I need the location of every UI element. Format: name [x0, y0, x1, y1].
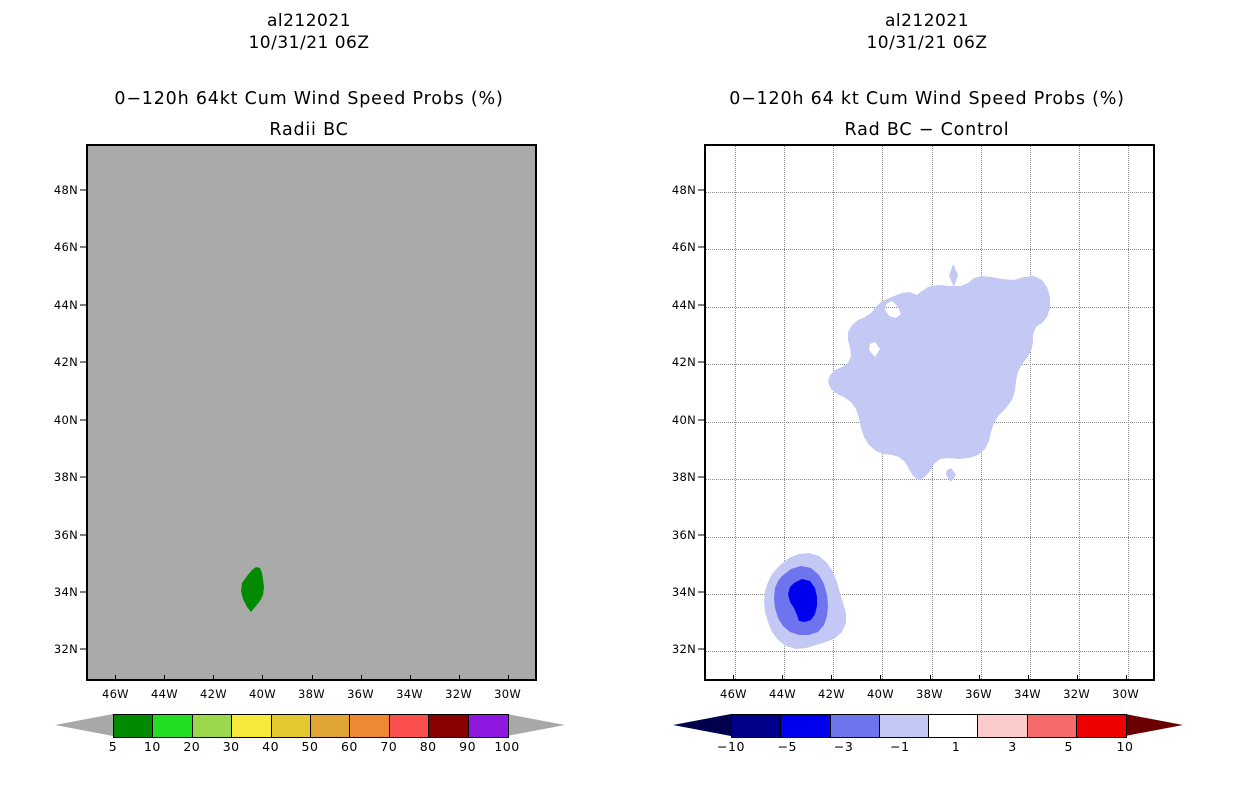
colorbar-segment[interactable]	[781, 715, 830, 737]
colorbar-segment[interactable]	[193, 715, 232, 737]
x-tick-mark	[930, 675, 931, 681]
colorbar-segment[interactable]	[1028, 715, 1077, 737]
y-tick-mark	[698, 534, 704, 535]
colorbar-segment[interactable]	[272, 715, 311, 737]
x-tick-label: 38W	[287, 687, 337, 701]
y-tick-mark	[80, 247, 86, 248]
x-tick-mark	[1077, 675, 1078, 681]
y-tick-label: 34N	[34, 585, 78, 599]
x-tick-label: 36W	[336, 687, 386, 701]
x-tick-label: 44W	[139, 687, 189, 701]
panel-title-right: 0−120h 64 kt Cum Wind Speed Probs (%)	[618, 88, 1236, 110]
colorbar-tick-label: 30	[211, 739, 251, 754]
colorbar-segment[interactable]	[114, 715, 153, 737]
colorbar-tick-label: 10	[132, 739, 172, 754]
x-tick-mark	[1028, 675, 1029, 681]
x-tick-mark	[410, 675, 411, 681]
datetime-left: 10/31/21 06Z	[0, 32, 618, 54]
x-tick-mark	[979, 675, 980, 681]
y-tick-mark	[80, 591, 86, 592]
x-tick-mark	[508, 675, 509, 681]
y-tick-label: 36N	[652, 528, 696, 542]
colorbar-tick-label: 80	[408, 739, 448, 754]
difference-contour-north-minus1-minus3	[828, 276, 1050, 482]
colorbar-tick-label: 50	[290, 739, 330, 754]
y-tick-label: 38N	[34, 470, 78, 484]
x-tick-mark	[262, 675, 263, 681]
x-tick-label: 32W	[434, 687, 484, 701]
y-tick-mark	[698, 189, 704, 190]
y-tick-label: 44N	[652, 298, 696, 312]
y-tick-mark	[80, 362, 86, 363]
x-tick-label: 40W	[855, 687, 905, 701]
x-tick-mark	[880, 675, 881, 681]
colorbar-segment[interactable]	[153, 715, 192, 737]
colorbar-segment[interactable]	[469, 715, 508, 737]
panel-title-left: 0−120h 64kt Cum Wind Speed Probs (%)	[0, 88, 618, 110]
colorbar-left[interactable]: 5102030405060708090100	[55, 714, 565, 778]
storm-id-right: al212021	[618, 10, 1236, 32]
contour-layer-left	[88, 146, 535, 679]
colorbar-tick-label: 3	[992, 739, 1032, 754]
y-tick-label: 32N	[652, 642, 696, 656]
colorbar-segment[interactable]	[232, 715, 271, 737]
y-tick-mark	[698, 477, 704, 478]
colorbar-tick-label: 100	[487, 739, 527, 754]
x-tick-label: 42W	[806, 687, 856, 701]
colorbar-right[interactable]: −10−5−3−113510	[673, 714, 1183, 778]
x-tick-mark	[361, 675, 362, 681]
colorbar-tick-label: 1	[936, 739, 976, 754]
x-tick-mark	[733, 675, 734, 681]
colorbar-tick-label: −5	[767, 739, 807, 754]
colorbar-segment[interactable]	[831, 715, 880, 737]
colorbar-scale[interactable]	[731, 714, 1127, 738]
colorbar-under-arrow	[55, 714, 113, 736]
colorbar-tick-label: −1	[880, 739, 920, 754]
y-tick-label: 32N	[34, 642, 78, 656]
x-tick-label: 30W	[1101, 687, 1151, 701]
probability-contour-5-10	[241, 567, 264, 612]
x-tick-mark	[312, 675, 313, 681]
colorbar-segment[interactable]	[880, 715, 929, 737]
y-tick-mark	[80, 649, 86, 650]
colorbar-segment[interactable]	[1077, 715, 1126, 737]
colorbar-segment[interactable]	[429, 715, 468, 737]
y-tick-label: 40N	[34, 413, 78, 427]
colorbar-tick-label: 5	[1049, 739, 1089, 754]
colorbar-segment[interactable]	[732, 715, 781, 737]
y-tick-label: 34N	[652, 585, 696, 599]
y-tick-label: 42N	[652, 355, 696, 369]
x-tick-mark	[459, 675, 460, 681]
y-tick-mark	[698, 591, 704, 592]
colorbar-tick-label: 40	[251, 739, 291, 754]
y-tick-label: 42N	[34, 355, 78, 369]
datetime-right: 10/31/21 06Z	[618, 32, 1236, 54]
x-tick-mark	[115, 675, 116, 681]
x-tick-mark	[164, 675, 165, 681]
y-tick-mark	[698, 247, 704, 248]
y-tick-mark	[698, 362, 704, 363]
colorbar-tick-label: −10	[711, 739, 751, 754]
colorbar-over-arrow	[507, 714, 565, 736]
y-tick-mark	[698, 304, 704, 305]
storm-id-left: al212021	[0, 10, 618, 32]
x-tick-label: 38W	[905, 687, 955, 701]
colorbar-segment[interactable]	[978, 715, 1027, 737]
y-tick-label: 46N	[652, 240, 696, 254]
panel-radii-bc: al212021 10/31/21 06Z 0−120h 64kt Cum Wi…	[0, 0, 618, 800]
colorbar-over-arrow	[1125, 714, 1183, 736]
colorbar-tick-label: −3	[824, 739, 864, 754]
colorbar-tick-label: 20	[172, 739, 212, 754]
x-tick-mark	[782, 675, 783, 681]
colorbar-segment[interactable]	[390, 715, 429, 737]
x-tick-mark	[831, 675, 832, 681]
colorbar-scale[interactable]	[113, 714, 509, 738]
map-plot-rad-bc-control[interactable]	[704, 144, 1155, 681]
y-tick-mark	[80, 477, 86, 478]
x-tick-label: 34W	[385, 687, 435, 701]
x-tick-label: 40W	[237, 687, 287, 701]
y-tick-label: 40N	[652, 413, 696, 427]
panel-rad-bc-control: al212021 10/31/21 06Z 0−120h 64 kt Cum W…	[618, 0, 1236, 800]
y-tick-label: 44N	[34, 298, 78, 312]
y-tick-mark	[80, 419, 86, 420]
x-tick-label: 32W	[1052, 687, 1102, 701]
contour-layer-right	[706, 146, 1153, 679]
colorbar-tick-label: 5	[93, 739, 133, 754]
y-tick-mark	[80, 304, 86, 305]
x-tick-label: 36W	[954, 687, 1004, 701]
y-tick-mark	[80, 189, 86, 190]
x-tick-mark	[213, 675, 214, 681]
y-tick-mark	[698, 419, 704, 420]
panel-subtitle-left: Radii BC	[0, 119, 618, 141]
colorbar-segment[interactable]	[929, 715, 978, 737]
map-plot-radii-bc[interactable]	[86, 144, 537, 681]
y-tick-mark	[80, 534, 86, 535]
colorbar-tick-label: 60	[329, 739, 369, 754]
y-tick-label: 48N	[652, 183, 696, 197]
colorbar-under-arrow	[673, 714, 731, 736]
difference-contour-north-satellite	[949, 264, 958, 287]
panel-subtitle-right: Rad BC − Control	[618, 119, 1236, 141]
colorbar-tick-label: 10	[1105, 739, 1145, 754]
x-tick-mark	[1126, 675, 1127, 681]
x-tick-label: 44W	[757, 687, 807, 701]
y-tick-label: 46N	[34, 240, 78, 254]
colorbar-tick-label: 90	[448, 739, 488, 754]
x-tick-label: 46W	[708, 687, 758, 701]
y-tick-label: 48N	[34, 183, 78, 197]
colorbar-tick-label: 70	[369, 739, 409, 754]
x-tick-label: 46W	[90, 687, 140, 701]
y-tick-mark	[698, 649, 704, 650]
x-tick-label: 34W	[1003, 687, 1053, 701]
x-tick-label: 30W	[483, 687, 533, 701]
y-tick-label: 36N	[34, 528, 78, 542]
colorbar-segment[interactable]	[311, 715, 350, 737]
x-tick-label: 42W	[188, 687, 238, 701]
y-tick-label: 38N	[652, 470, 696, 484]
colorbar-segment[interactable]	[350, 715, 389, 737]
